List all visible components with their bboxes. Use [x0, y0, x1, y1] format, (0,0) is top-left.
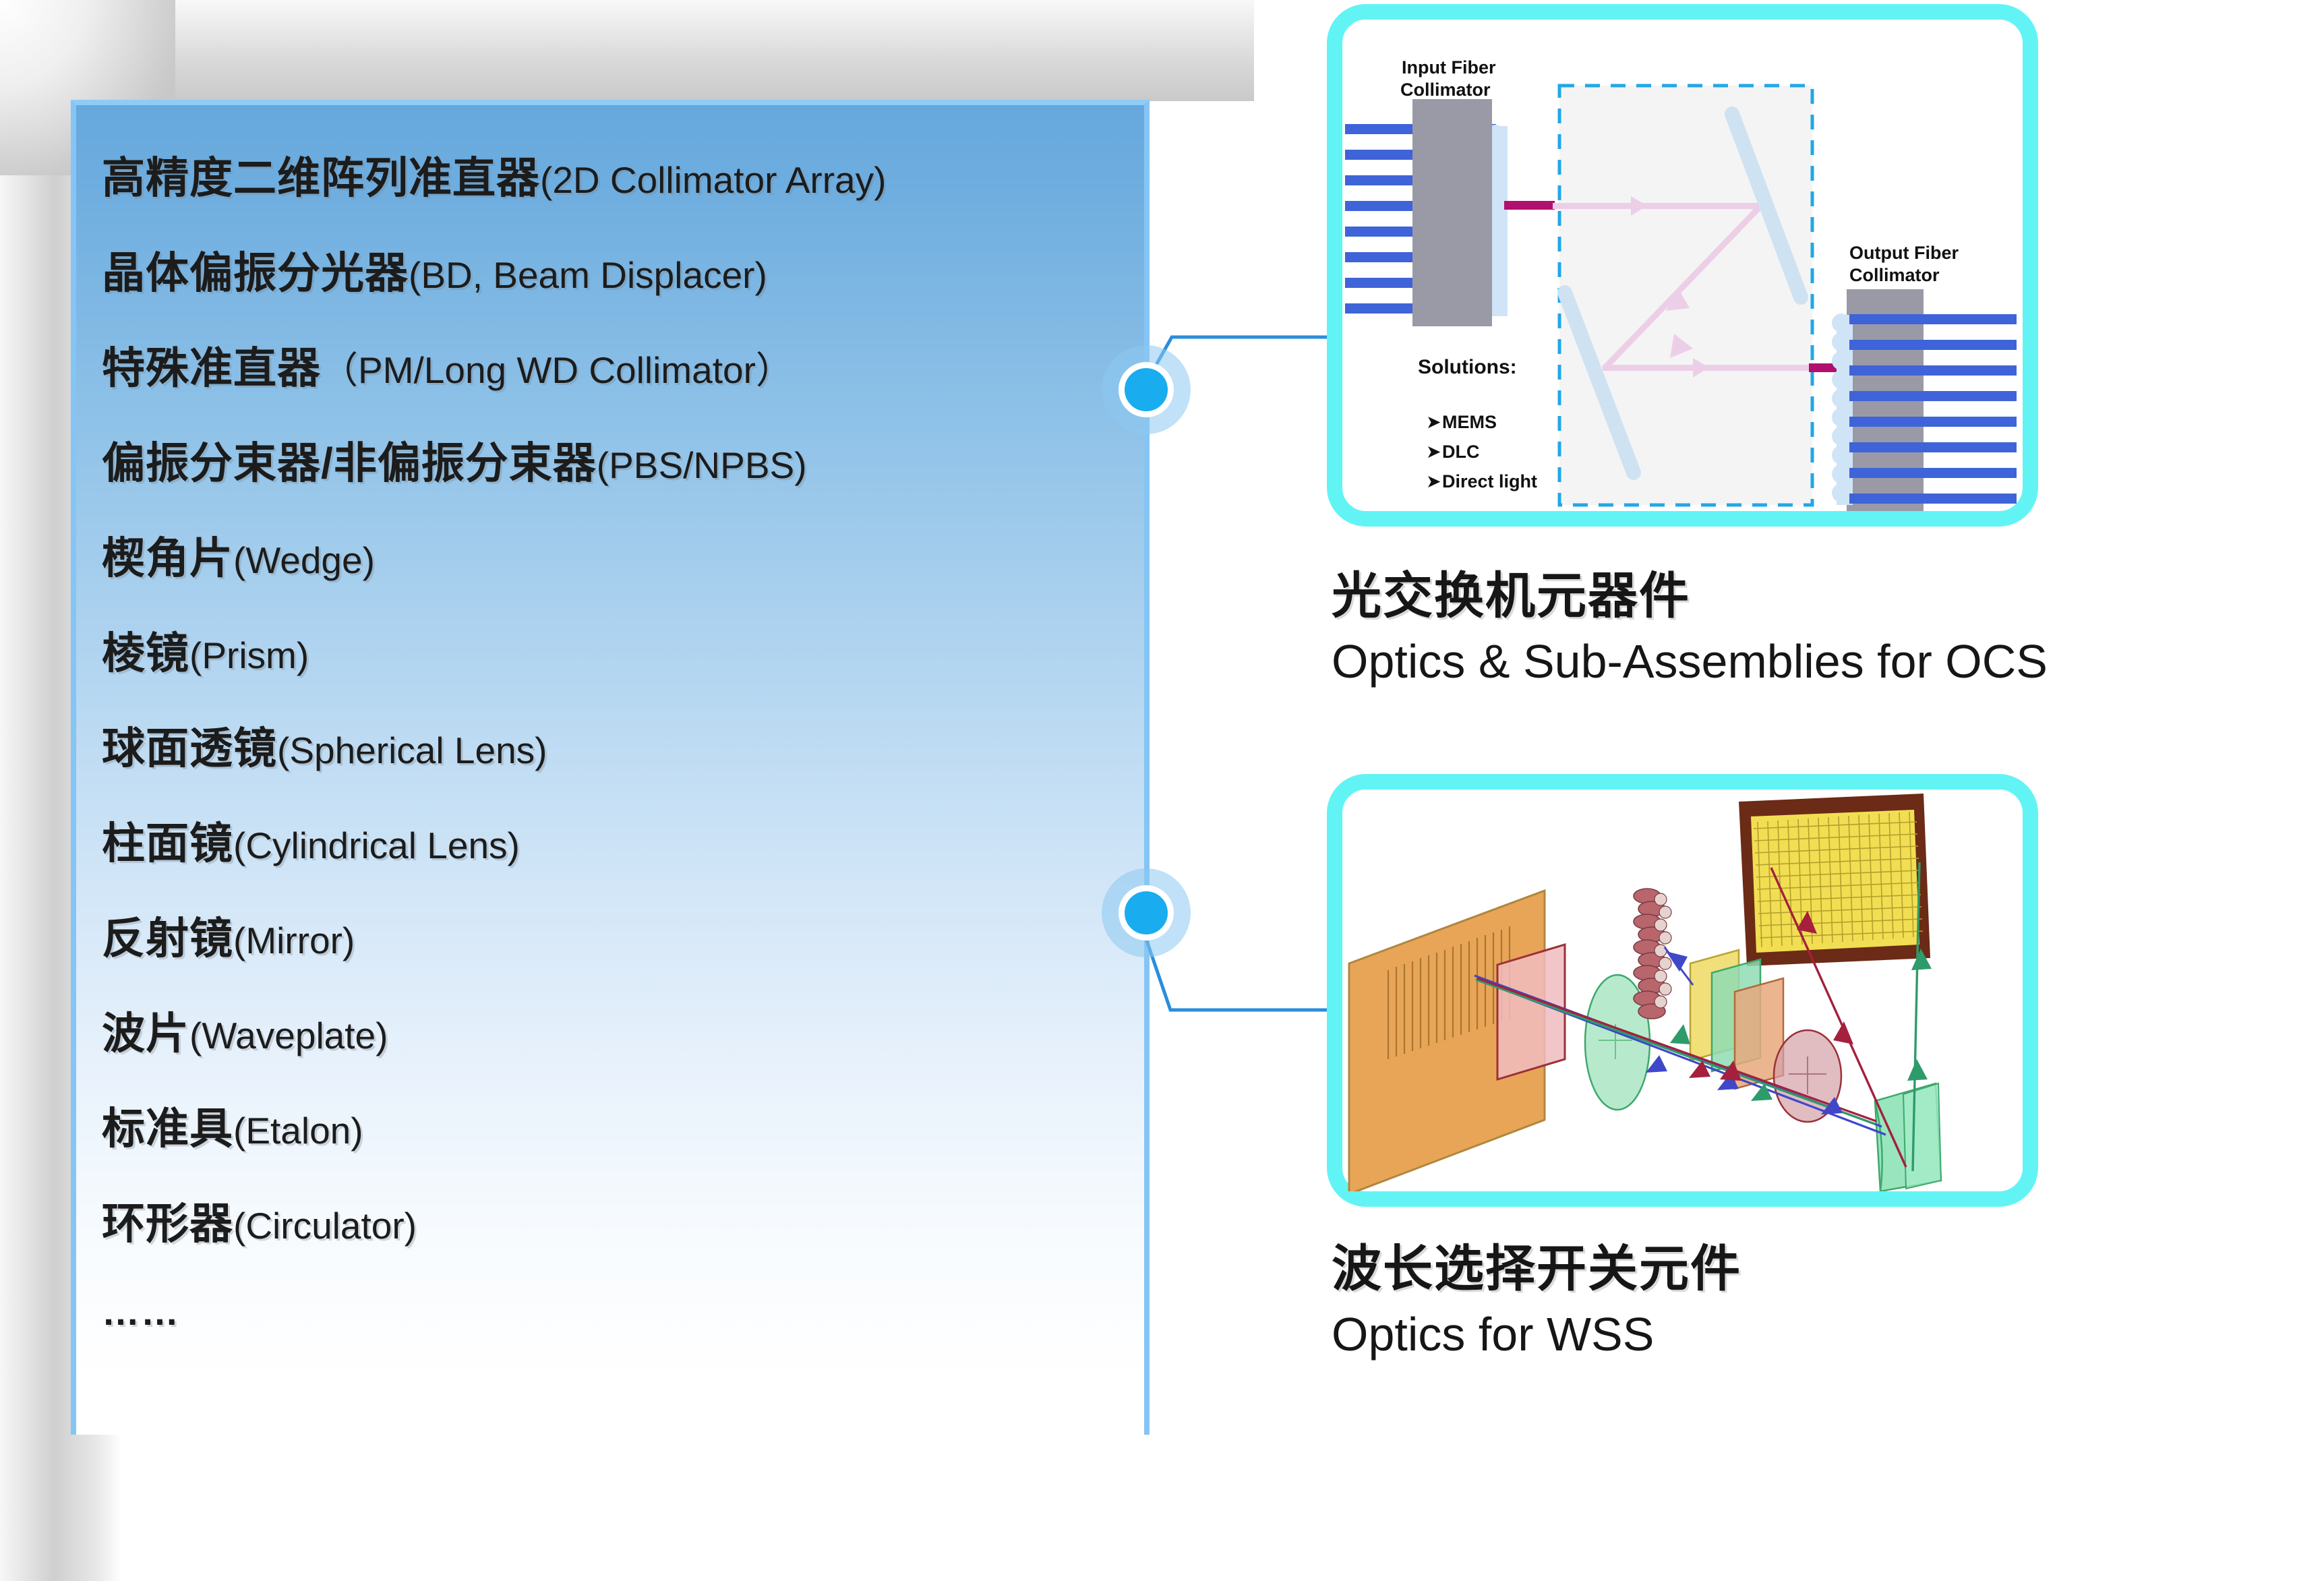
switch-fabric-dashed-region: [1559, 86, 1812, 505]
list-item-label-cn: 柱面镜: [102, 819, 233, 868]
input-collimator-label-line1: Input Fiber: [1402, 57, 1496, 78]
solution-item-dlc: DLC: [1442, 442, 1480, 462]
solution-item-mems: MEMS: [1442, 412, 1497, 432]
list-item-label-en: (Cylindrical Lens): [233, 825, 520, 866]
list-item: 高精度二维阵列准直器(2D Collimator Array): [102, 131, 1144, 226]
beam-displacer-prism-icon: [1875, 1083, 1941, 1191]
ocs-optical-switch-diagram: Input Fiber Collimator: [1342, 20, 2023, 511]
bullet-arrow-icon: ➤: [1426, 471, 1441, 491]
list-item: 棱镜(Prism): [102, 606, 1144, 701]
list-item: 楔角片(Wedge): [102, 511, 1144, 606]
list-ellipsis-label: ……: [102, 1290, 180, 1333]
list-item-label-en: (Prism): [189, 634, 309, 676]
wss-caption-cn: 波长选择开关元件: [1332, 1239, 2316, 1298]
ocs-diagram-card: Input Fiber Collimator: [1327, 4, 2038, 527]
lcos-panel-icon: [1739, 794, 1930, 966]
cylindrical-lens-array-icon: [1634, 889, 1671, 1019]
ocs-caption-en: Optics & Sub-Assemblies for OCS: [1332, 633, 2316, 690]
list-item: 晶体偏振分光器(BD, Beam Displacer): [102, 226, 1144, 321]
list-item-label-cn: 环形器: [102, 1199, 233, 1248]
list-item-label-cn: 标准具: [102, 1104, 233, 1153]
list-item-ellipsis: ……: [102, 1272, 1144, 1352]
list-item-label-en: (Spherical Lens): [277, 729, 547, 771]
list-item-label-en: （PM/Long WD Collimator）: [321, 349, 793, 391]
wss-diagram-card: [1327, 774, 2038, 1207]
list-item-label-cn: 楔角片: [102, 534, 233, 583]
input-collimator-block: [1412, 99, 1492, 326]
connector-node-ocs[interactable]: [1102, 345, 1191, 434]
wss-caption: 波长选择开关元件 Optics for WSS: [1332, 1239, 2316, 1364]
component-list-panel: 高精度二维阵列准直器(2D Collimator Array) 晶体偏振分光器(…: [71, 100, 1150, 1435]
list-item-label-cn: 反射镜: [102, 914, 233, 963]
input-collimator-label-line2: Collimator: [1400, 80, 1491, 100]
component-list: 高精度二维阵列准直器(2D Collimator Array) 晶体偏振分光器(…: [76, 105, 1144, 1435]
list-item-label-cn: 波片: [102, 1009, 189, 1058]
list-item-label-cn: 球面透镜: [102, 724, 277, 773]
output-collimator-label-line1: Output Fiber: [1849, 243, 1959, 263]
list-item-label-cn: 棱镜: [102, 629, 189, 678]
list-item: 偏振分束器/非偏振分束器(PBS/NPBS): [102, 416, 1144, 511]
list-item: 环形器(Circulator): [102, 1176, 1144, 1272]
output-collimator-label-line2: Collimator: [1849, 265, 1940, 285]
list-item-label-en: (Wedge): [233, 539, 375, 581]
list-item-label-en: (Circulator): [233, 1205, 417, 1247]
ocs-caption-cn: 光交换机元器件: [1332, 566, 2316, 625]
list-item: 反射镜(Mirror): [102, 891, 1144, 986]
solutions-heading: Solutions:: [1418, 356, 1517, 378]
connector-node-wss[interactable]: [1102, 868, 1191, 957]
list-item-label-cn: 晶体偏振分光器: [102, 249, 409, 297]
list-item-label-cn: 高精度二维阵列准直器: [102, 154, 540, 202]
ocs-caption: 光交换机元器件 Optics & Sub-Assemblies for OCS: [1332, 566, 2316, 691]
list-item-label-en: (BD, Beam Displacer): [409, 254, 767, 296]
page-edge-shadow-top: [0, 0, 1254, 101]
list-item-label-en: (Etalon): [233, 1110, 363, 1152]
wss-caption-en: Optics for WSS: [1332, 1306, 2316, 1363]
solution-item-direct-light: Direct light: [1442, 471, 1537, 491]
list-item: 柱面镜(Cylindrical Lens): [102, 796, 1144, 891]
bullet-arrow-icon: ➤: [1426, 442, 1441, 462]
list-item: 标准具(Etalon): [102, 1081, 1144, 1176]
list-item: 球面透镜(Spherical Lens): [102, 701, 1144, 796]
list-item-label-en: (Mirror): [233, 920, 355, 961]
list-item-label-cn: 偏振分束器/非偏振分束器: [102, 439, 597, 487]
list-item-label-en: (PBS/NPBS): [597, 444, 807, 486]
list-item-label-en: (Waveplate): [189, 1015, 388, 1056]
waveplate-icon: [1497, 945, 1565, 1079]
list-item-label-en: (2D Collimator Array): [540, 159, 886, 201]
wss-optical-diagram: [1342, 789, 2023, 1191]
bullet-arrow-icon: ➤: [1426, 412, 1441, 432]
list-item-label-cn: 特殊准直器: [102, 344, 321, 392]
list-item: 特殊准直器（PM/Long WD Collimator）: [102, 321, 1144, 416]
list-item: 波片(Waveplate): [102, 986, 1144, 1081]
